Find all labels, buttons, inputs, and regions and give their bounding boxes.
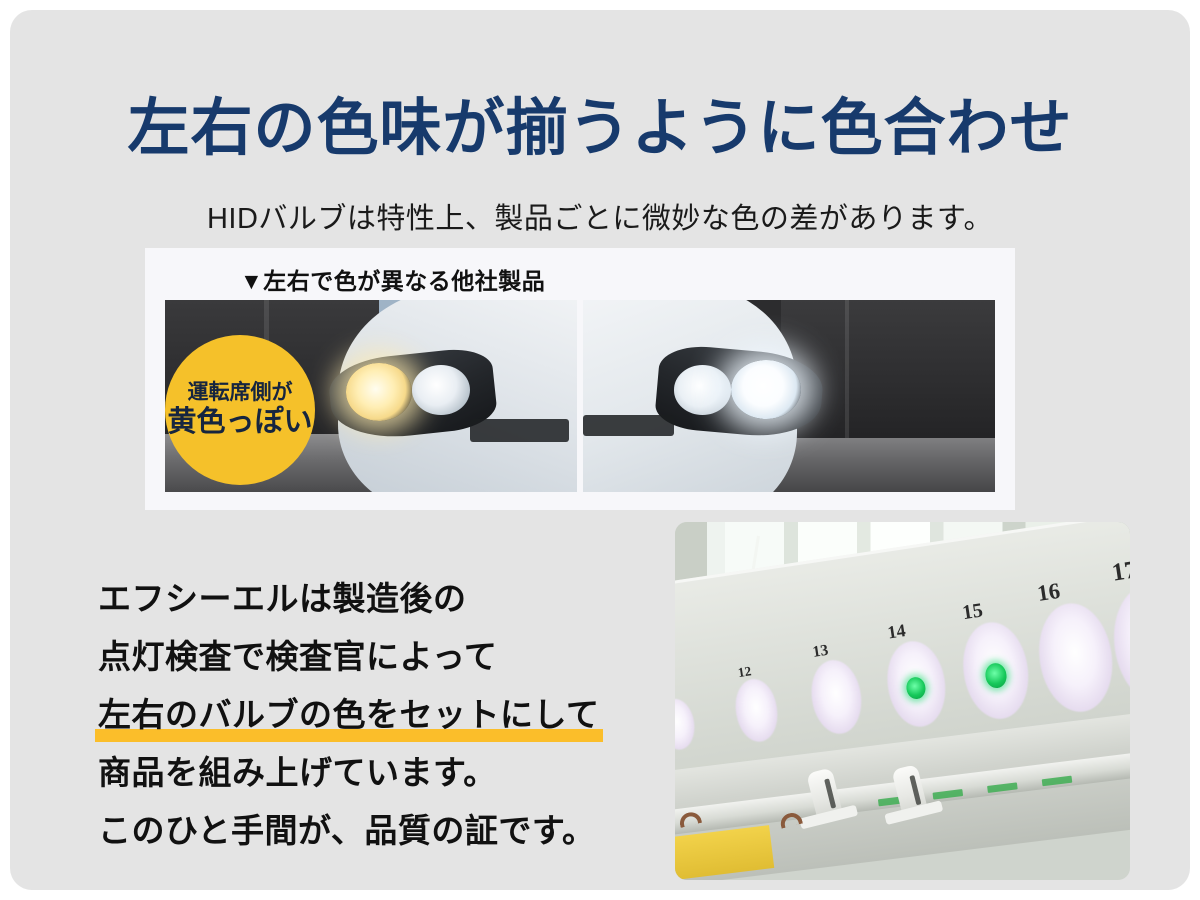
rail-label — [1042, 775, 1073, 786]
inspection-photo: 11121314151617 — [675, 522, 1130, 880]
copy-line-2: 点灯検査で検査官によって — [98, 628, 678, 686]
copy-text: このひと手間が、品質の証です。 — [98, 812, 596, 849]
front-grille — [470, 419, 569, 442]
secondary-lamp — [412, 365, 470, 415]
light-spot — [675, 697, 697, 752]
station-number: 12 — [737, 664, 753, 682]
callout-badge: 運転席側が 黄色っぽい — [165, 335, 315, 485]
copy-text: 商品を組み上げています。 — [98, 754, 497, 791]
copy-line-4: 商品を組み上げています。 — [98, 744, 678, 802]
comparison-caption: ▼左右で色が異なる他社製品 — [240, 262, 545, 296]
copy-line-3-highlighted: 左右のバルブの色をセットにして — [98, 686, 678, 744]
light-spot — [1031, 599, 1119, 717]
ground-surface — [773, 438, 995, 492]
hid-bulb-cool — [731, 360, 801, 420]
light-spot — [731, 677, 781, 745]
badge-line-2: 黄色っぽい — [167, 406, 312, 439]
headlight-photo-right — [583, 300, 995, 492]
badge-line-1: 運転席側が — [188, 381, 293, 404]
station-number: 17 — [1110, 557, 1130, 588]
front-grille — [583, 415, 674, 436]
station-number: 15 — [961, 600, 985, 626]
hid-bulb-warm — [346, 363, 412, 421]
station-number: 16 — [1035, 578, 1061, 607]
light-spot — [806, 658, 866, 738]
subtitle: HIDバルブは特性上、製品ごとに微妙な色の差があります。 — [10, 195, 1190, 237]
rail-label — [987, 781, 1018, 792]
body-copy: エフシーエルは製造後の 点灯検査で検査官によって 左右のバルブの色をセットにして… — [98, 570, 678, 860]
copy-line-5: このひと手間が、品質の証です。 — [98, 802, 678, 860]
advertisement-page: 左右の色味が揃うように色合わせ HIDバルブは特性上、製品ごとに微妙な色の差があ… — [0, 0, 1200, 900]
content-panel: 左右の色味が揃うように色合わせ HIDバルブは特性上、製品ごとに微妙な色の差があ… — [10, 10, 1190, 890]
copy-text: エフシーエルは製造後の — [98, 580, 467, 617]
page-title: 左右の色味が揃うように色合わせ — [10, 98, 1190, 160]
station-number: 14 — [886, 621, 907, 644]
copy-line-1: エフシーエルは製造後の — [98, 570, 678, 628]
station-number: 13 — [811, 642, 829, 662]
highlighted-copy-text: 左右のバルブの色をセットにして — [98, 686, 600, 744]
secondary-lamp — [674, 365, 732, 415]
rail-label — [933, 788, 964, 799]
copy-text: 点灯検査で検査官によって — [98, 638, 497, 675]
